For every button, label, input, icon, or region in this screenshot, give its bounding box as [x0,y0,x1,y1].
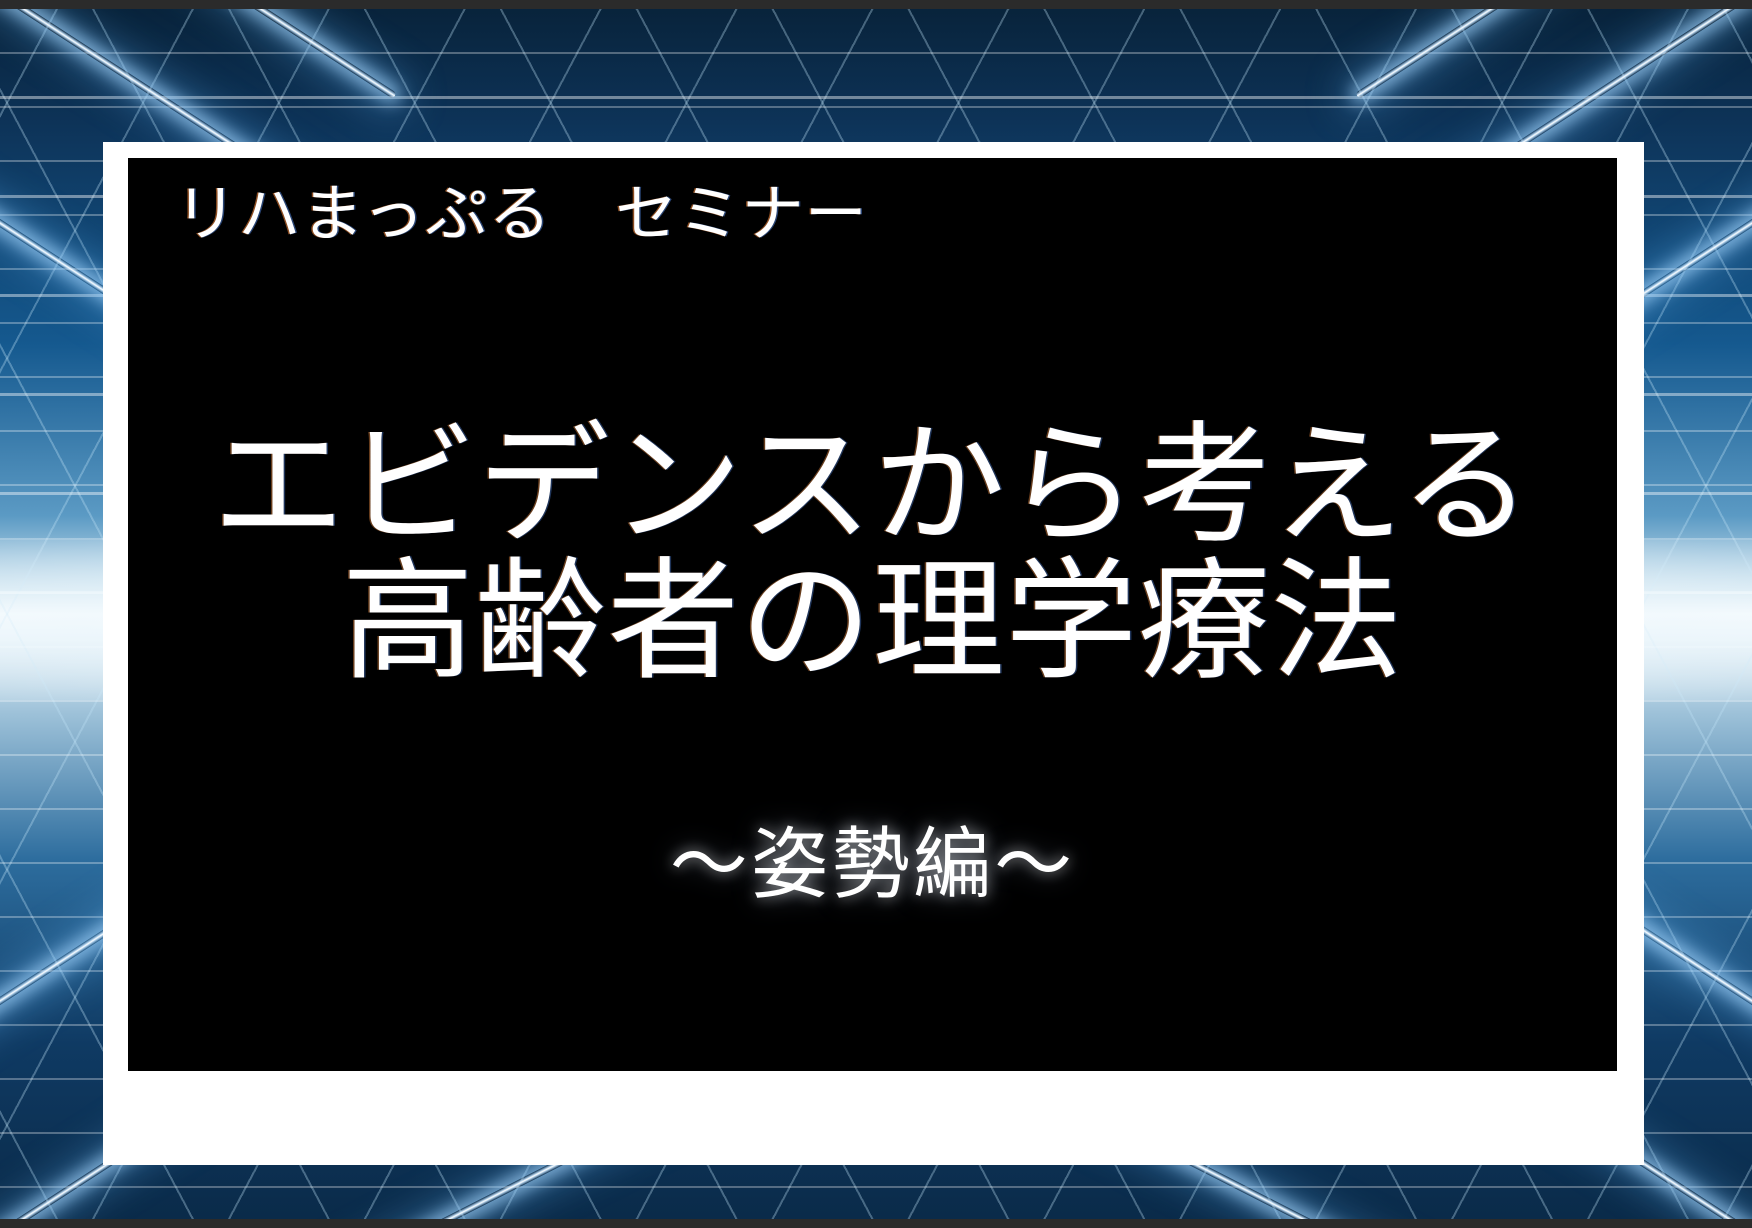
title-line-2: 高齢者の理学療法 [128,554,1617,690]
seminar-label: リハまっぷる セミナー [175,184,868,246]
bottom-edge-strip [0,1219,1752,1228]
presentation-slide: リハまっぷる セミナー エビデンスから考える 高齢者の理学療法 ～姿勢編～ [0,0,1752,1228]
top-edge-strip [0,0,1752,9]
title-line-1: エビデンスから考える [128,418,1617,554]
slide-title: エビデンスから考える 高齢者の理学療法 [128,418,1617,690]
slide-subtitle: ～姿勢編～ [128,822,1617,908]
